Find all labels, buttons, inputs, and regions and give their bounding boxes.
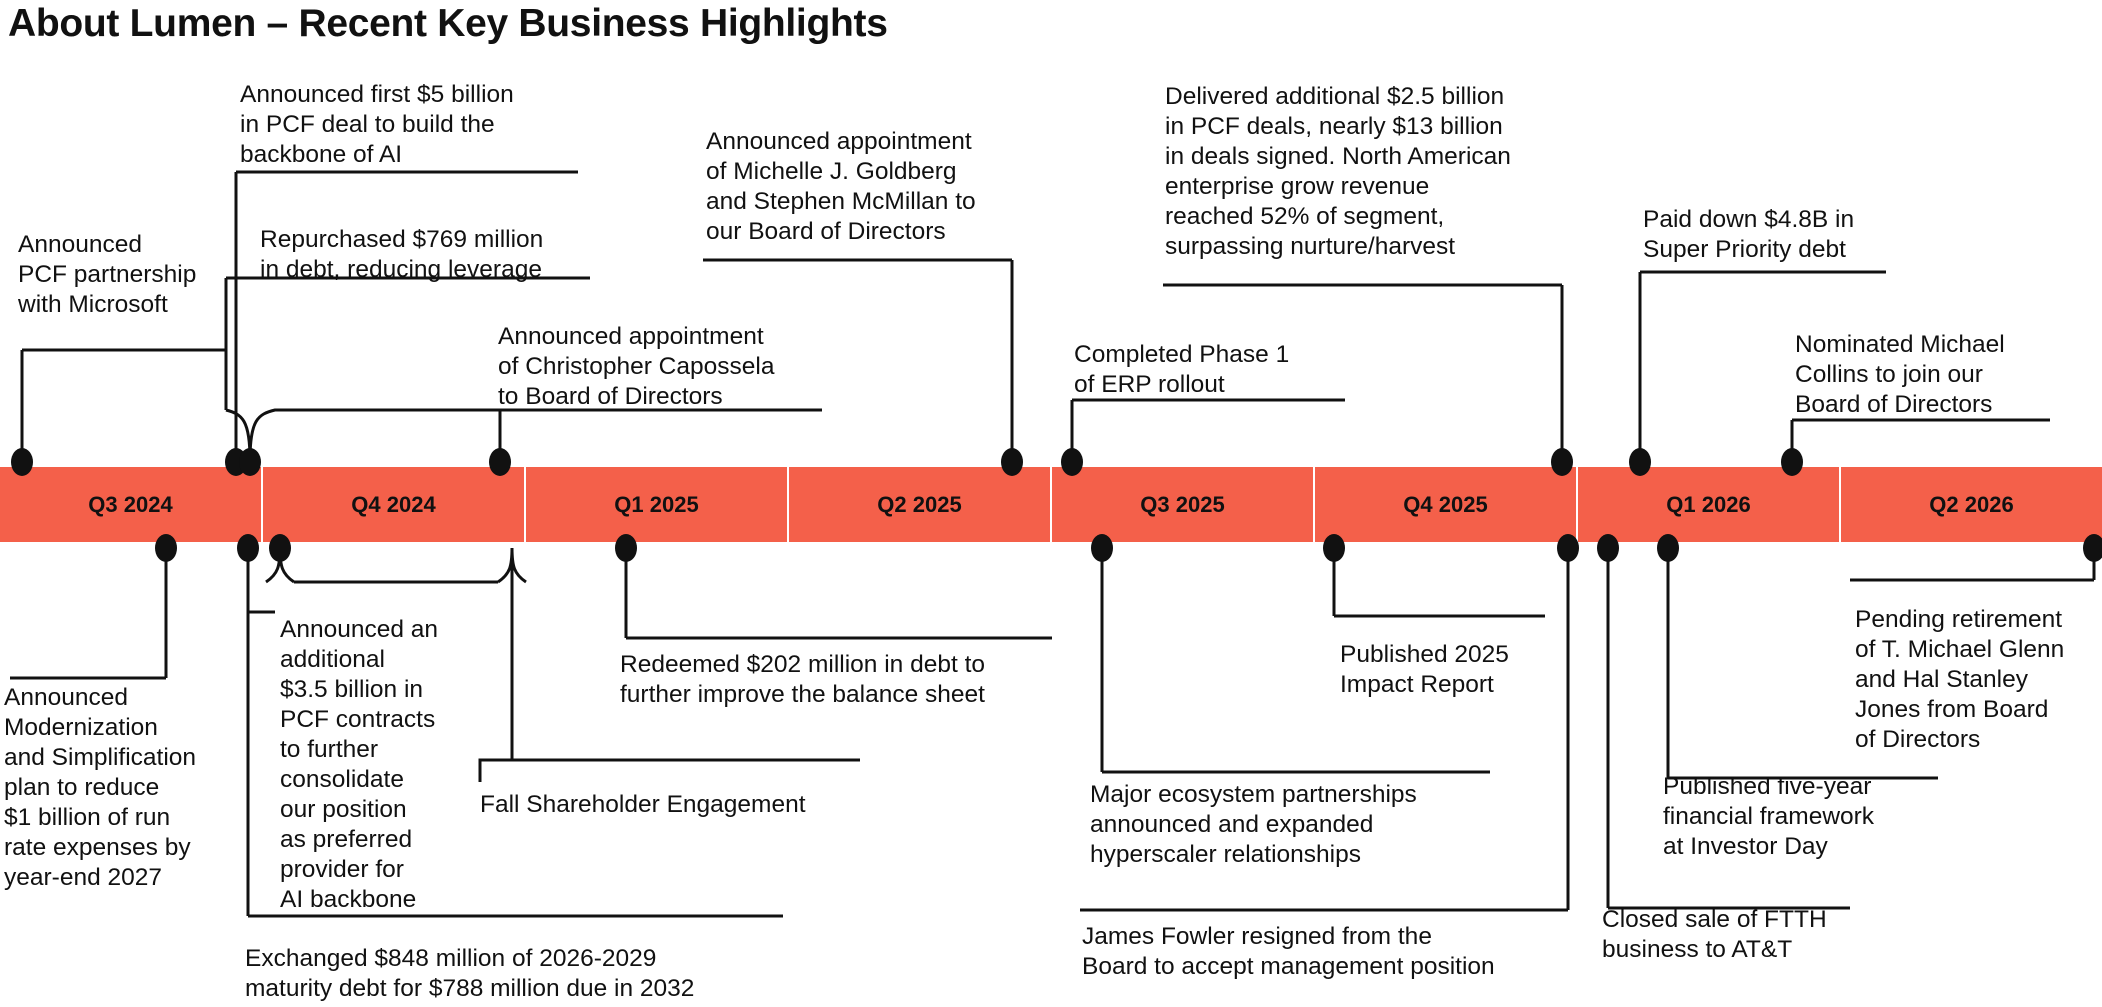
note-nominated-michael-collins: Nominated Michael Collins to join our Bo… bbox=[1795, 330, 2065, 420]
timeline-bar: Q3 2024 Q4 2024 Q1 2025 Q2 2025 Q3 2025 … bbox=[0, 467, 2102, 542]
note-first-5b-pcf-deal: Announced first $5 billion in PCF deal t… bbox=[240, 80, 590, 170]
timeline-quarter-q4-2025[interactable]: Q4 2025 bbox=[1315, 467, 1578, 542]
timeline-quarter-q3-2025[interactable]: Q3 2025 bbox=[1052, 467, 1315, 542]
timeline-quarter-q1-2025[interactable]: Q1 2025 bbox=[526, 467, 789, 542]
timeline-quarter-q4-2024[interactable]: Q4 2024 bbox=[263, 467, 526, 542]
note-pcf-partnership-microsoft: Announced PCF partnership with Microsoft bbox=[18, 230, 248, 320]
note-ecosystem-partnerships: Major ecosystem partnerships announced a… bbox=[1090, 780, 1510, 870]
timeline-quarter-q1-2026[interactable]: Q1 2026 bbox=[1578, 467, 1841, 542]
quarter-label: Q1 2026 bbox=[1666, 492, 1750, 518]
note-paid-down-4-8b: Paid down $4.8B in Super Priority debt bbox=[1643, 205, 1903, 265]
note-repurchased-769m: Repurchased $769 million in debt, reduci… bbox=[260, 225, 600, 285]
note-james-fowler-resigned: James Fowler resigned from the Board to … bbox=[1082, 922, 1602, 982]
timeline-quarter-q3-2024[interactable]: Q3 2024 bbox=[0, 467, 263, 542]
quarter-label: Q2 2026 bbox=[1929, 492, 2013, 518]
note-redeemed-202m: Redeemed $202 million in debt to further… bbox=[620, 650, 1070, 710]
note-modernization-simplification: Announced Modernization and Simplificati… bbox=[4, 683, 229, 893]
quarter-label: Q1 2025 bbox=[614, 492, 698, 518]
note-pending-retirement-glenn-jones: Pending retirement of T. Michael Glenn a… bbox=[1855, 605, 2102, 755]
note-closed-sale-ftth: Closed sale of FTTH business to AT&T bbox=[1602, 905, 1902, 965]
note-five-year-financial-framework: Published five-year financial framework … bbox=[1663, 772, 1963, 862]
note-capossela-board: Announced appointment of Christopher Cap… bbox=[498, 322, 838, 412]
note-published-2025-impact-report: Published 2025 Impact Report bbox=[1340, 640, 1570, 700]
quarter-label: Q2 2025 bbox=[877, 492, 961, 518]
timeline-quarter-q2-2025[interactable]: Q2 2025 bbox=[789, 467, 1052, 542]
note-additional-3-5b-pcf: Announced an additional $3.5 billion in … bbox=[280, 615, 470, 915]
quarter-label: Q4 2024 bbox=[351, 492, 435, 518]
timeline-quarter-q2-2026[interactable]: Q2 2026 bbox=[1841, 467, 2102, 542]
note-fall-shareholder-engagement: Fall Shareholder Engagement bbox=[480, 790, 880, 820]
note-goldberg-mcmillan-board: Announced appointment of Michelle J. Gol… bbox=[706, 127, 1036, 247]
note-erp-phase-1: Completed Phase 1 of ERP rollout bbox=[1074, 340, 1354, 400]
note-exchanged-848m: Exchanged $848 million of 2026-2029 matu… bbox=[245, 944, 805, 1004]
quarter-label: Q3 2025 bbox=[1140, 492, 1224, 518]
note-pcf-deals-2-5b: Delivered additional $2.5 billion in PCF… bbox=[1165, 82, 1585, 262]
page-title: About Lumen – Recent Key Business Highli… bbox=[8, 2, 888, 46]
quarter-label: Q3 2024 bbox=[88, 492, 172, 518]
quarter-label: Q4 2025 bbox=[1403, 492, 1487, 518]
